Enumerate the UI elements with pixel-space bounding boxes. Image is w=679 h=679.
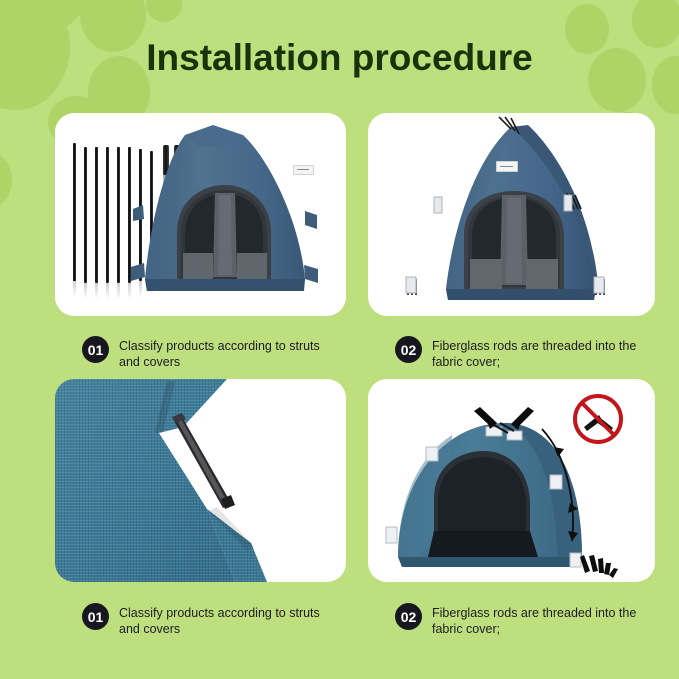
impact-lines-icon: [580, 555, 618, 578]
step-text-1: Classify products according to struts an…: [119, 336, 337, 370]
no-entry-icon: [575, 396, 621, 442]
step-text-2: Fiberglass rods are threaded into the fa…: [432, 336, 645, 370]
step-image-panel-2: [368, 113, 655, 316]
step-badge-3: 01: [82, 603, 109, 630]
infographic-page: Installation procedure: [0, 0, 679, 679]
step-text-4: Fiberglass rods are threaded into the fa…: [432, 603, 645, 637]
brand-logo-label: [496, 161, 518, 172]
step-image-panel-3: [55, 379, 346, 582]
step-badge-4: 02: [395, 603, 422, 630]
page-title: Installation procedure: [0, 30, 679, 85]
step-caption-2: 02 Fiberglass rods are threaded into the…: [395, 336, 645, 370]
step-caption-1: 01 Classify products according to struts…: [82, 336, 337, 370]
brand-logo-label: [293, 165, 314, 175]
step-text-3: Classify products according to struts an…: [119, 603, 337, 637]
step-image-panel-1: [55, 113, 346, 316]
step-caption-4: 02 Fiberglass rods are threaded into the…: [395, 603, 645, 637]
step-caption-3: 01 Classify products according to struts…: [82, 603, 337, 637]
step-badge-2: 02: [395, 336, 422, 363]
step-badge-1: 01: [82, 336, 109, 363]
step-image-panel-4: [368, 379, 655, 582]
